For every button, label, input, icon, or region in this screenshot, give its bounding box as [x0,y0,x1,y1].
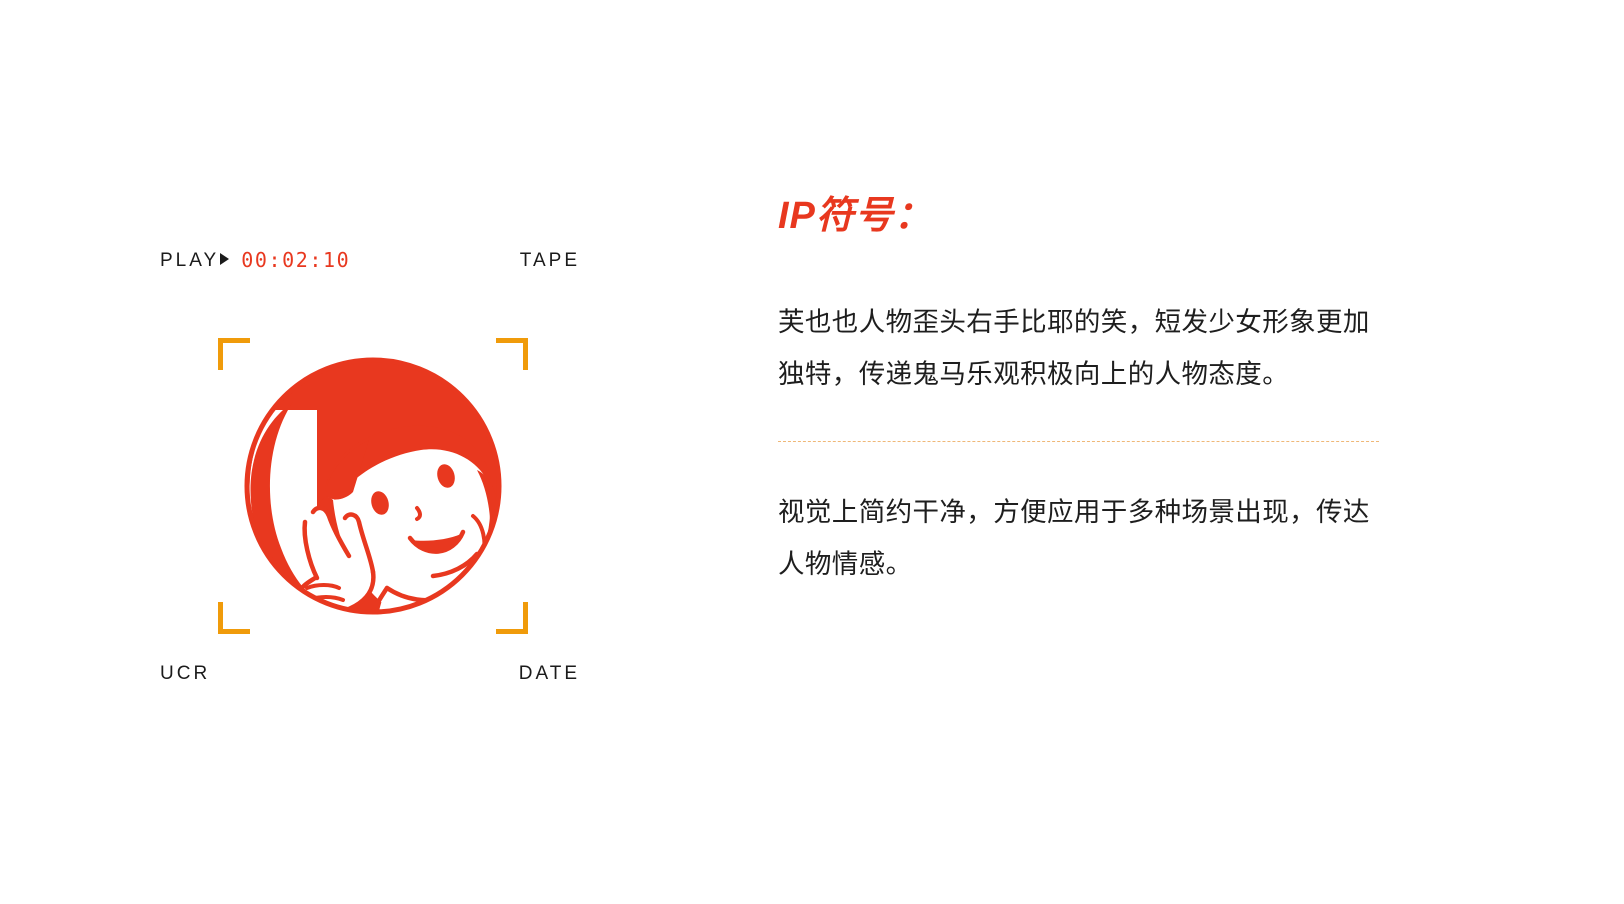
copy-column: IP符号： 芙也也人物歪头右手比耶的笑，短发少女形象更加独特，传递鬼马乐观积极向… [778,196,1382,591]
viewfinder-frame [218,338,528,634]
tape-viewfinder: PLAY 00:02:10 TAPE [160,246,580,686]
date-label: DATE [519,664,580,683]
play-label: PLAY [160,251,241,270]
ip-symbol-title: IP符号： [778,196,1382,238]
timecode-display: 00:02:10 [241,250,350,270]
viewfinder-bottom-bar: UCR DATE [160,660,580,686]
description-paragraph-1: 芙也也人物歪头右手比耶的笑，短发少女形象更加独特，传递鬼马乐观积极向上的人物态度… [778,296,1382,401]
ucr-label: UCR [160,664,210,683]
ip-character-illustration [237,350,509,622]
play-triangle-icon [220,253,229,265]
slide-canvas: PLAY 00:02:10 TAPE [0,0,1624,904]
dashed-divider [778,441,1379,442]
viewfinder-top-bar: PLAY 00:02:10 TAPE [160,246,580,274]
tape-label: TAPE [520,251,580,270]
description-paragraph-2: 视觉上简约干净，方便应用于多种场景出现，传达人物情感。 [778,486,1382,591]
